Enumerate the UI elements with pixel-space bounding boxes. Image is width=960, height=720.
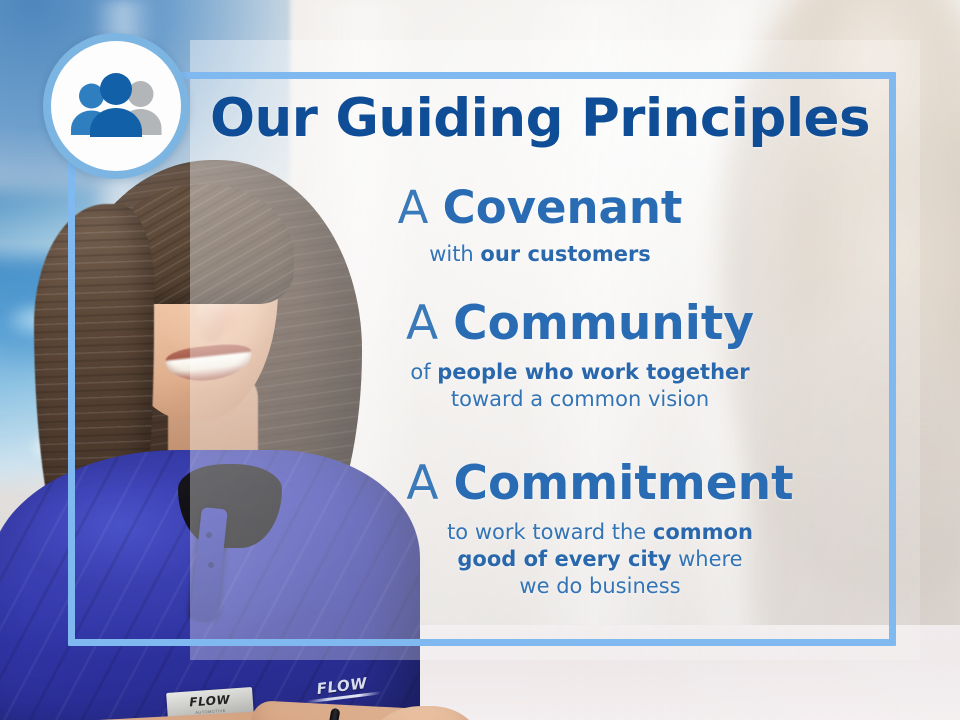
guiding-principles-banner: FLOW AUTOMOTIVE FLOW	[0, 0, 960, 720]
people-group-icon-badge	[43, 33, 189, 179]
nose	[196, 298, 226, 342]
principle-subtext: with our customers	[240, 241, 840, 268]
principle-subtext: to work toward the commongood of every c…	[300, 519, 900, 600]
principle-heading: A Commitment	[300, 460, 900, 509]
badge-brand-text: FLOW	[189, 693, 231, 708]
principle-article: A	[406, 456, 438, 511]
principle-heading: A Covenant	[240, 185, 840, 232]
principle-block-covenant: A Covenant with our customers	[240, 185, 840, 268]
people-group-icon	[64, 69, 168, 143]
principle-article: A	[406, 296, 438, 351]
principle-block-commitment: A Commitment to work toward the commongo…	[300, 460, 900, 600]
chin-shadow	[168, 382, 238, 412]
principle-subtext: of people who work togethertoward a comm…	[280, 359, 880, 413]
shirt-button	[206, 532, 212, 538]
principle-keyword: Community	[453, 296, 754, 351]
principle-article: A	[398, 181, 429, 234]
banner-title: Our Guiding Principles	[200, 92, 880, 145]
shirt-button	[208, 562, 214, 568]
principle-block-community: A Community of people who work togethert…	[280, 300, 880, 413]
principle-keyword: Commitment	[454, 456, 794, 511]
principle-keyword: Covenant	[443, 181, 683, 234]
principle-heading: A Community	[280, 300, 880, 349]
